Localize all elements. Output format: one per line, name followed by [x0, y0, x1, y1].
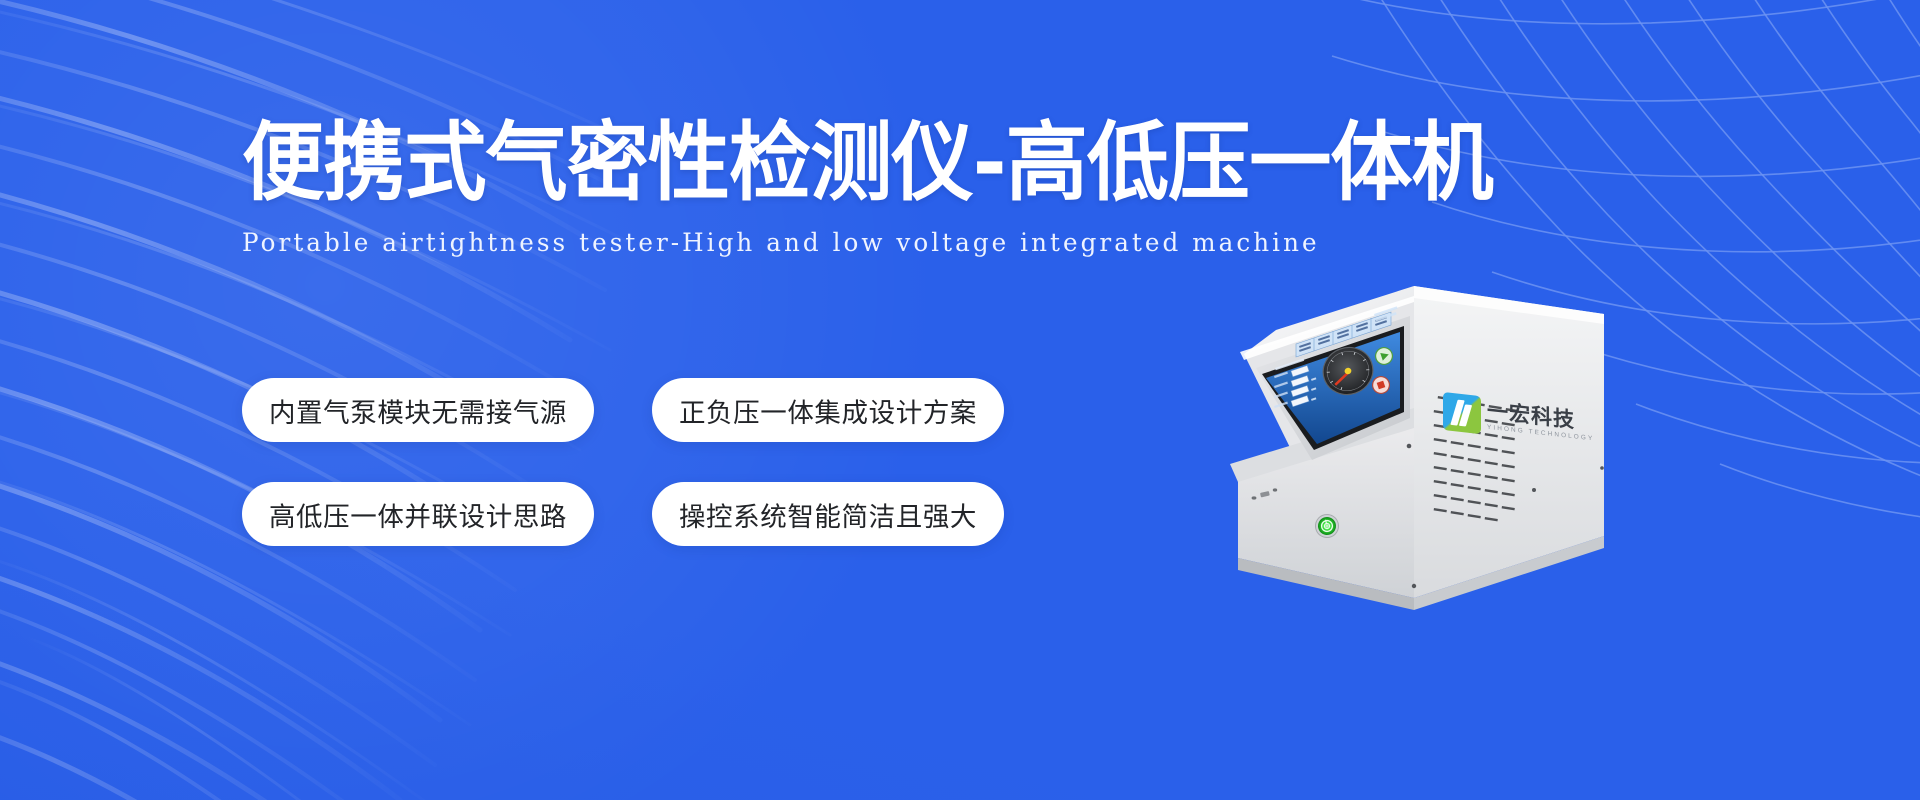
product-hero-banner: 便携式气密性检测仪-高低压一体机 Portable airtightness t…	[0, 0, 1920, 800]
brand-mark-icon	[1443, 392, 1481, 434]
feature-pill-4[interactable]: 操控系统智能简洁且强大	[652, 482, 1004, 546]
feature-pill-3[interactable]: 高低压一体并联设计思路	[242, 482, 594, 546]
page-title: 便携式气密性检测仪-高低压一体机	[242, 120, 1579, 206]
feature-pill-list: 内置气泵模块无需接气源 正负压一体集成设计方案 高低压一体并联设计思路 操控系统…	[242, 378, 1004, 546]
feature-pill-2[interactable]: 正负压一体集成设计方案	[652, 378, 1004, 442]
product-device-image	[1178, 268, 1618, 648]
page-subtitle: Portable airtightness tester-High and lo…	[242, 228, 1621, 257]
device-illustration-icon	[1178, 268, 1618, 648]
brand-text: 一宏科技 YIHONG TECHNOLOGY	[1487, 401, 1594, 443]
feature-pill-1[interactable]: 内置气泵模块无需接气源	[242, 378, 594, 442]
headline-block: 便携式气密性检测仪-高低压一体机 Portable airtightness t…	[242, 120, 1642, 257]
